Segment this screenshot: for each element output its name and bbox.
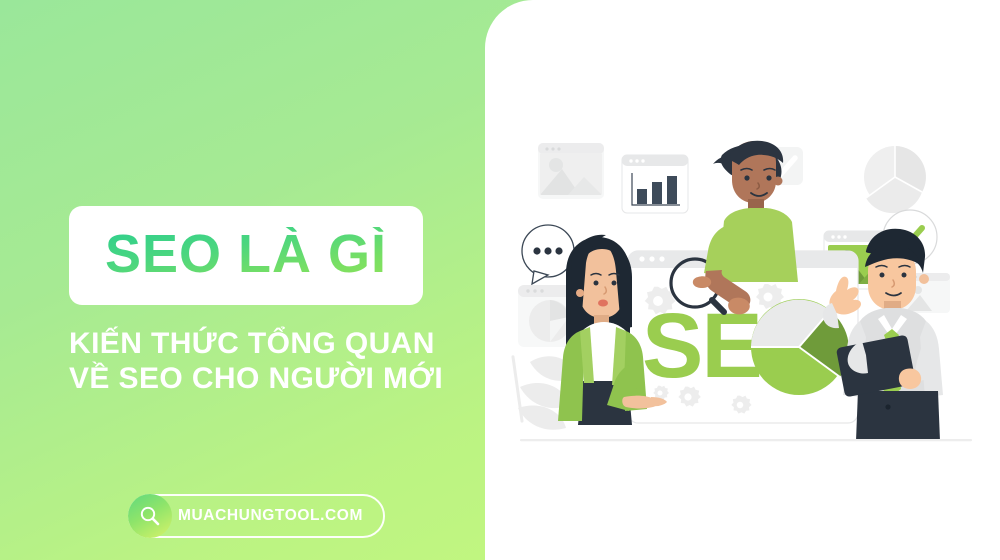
magnifier-icon (128, 494, 172, 538)
banner-canvas: SEO LÀ GÌ KIẾN THỨC TỔNG QUAN VỀ SEO CHO… (0, 0, 1000, 560)
page-subtitle: KIẾN THỨC TỔNG QUAN VỀ SEO CHO NGƯỜI MỚI (69, 326, 469, 396)
browser-window-bar-chart (622, 155, 688, 213)
seo-team-illustration: SE (510, 125, 990, 445)
browser-window-image-top-left (538, 143, 604, 199)
pie-chart-decor (864, 146, 926, 213)
ground-line (520, 439, 972, 441)
bar-chart-icon (637, 189, 647, 204)
subtitle-line-2: VỀ SEO CHO NGƯỜI MỚI (69, 361, 469, 396)
brand-logo[interactable]: MUACHUNGTOOL.COM (128, 494, 385, 538)
title-card: SEO LÀ GÌ (69, 206, 423, 305)
page-title: SEO LÀ GÌ (105, 227, 387, 285)
brand-name: MUACHUNGTOOL.COM (178, 507, 363, 525)
subtitle-line-1: KIẾN THỨC TỔNG QUAN (69, 326, 469, 361)
